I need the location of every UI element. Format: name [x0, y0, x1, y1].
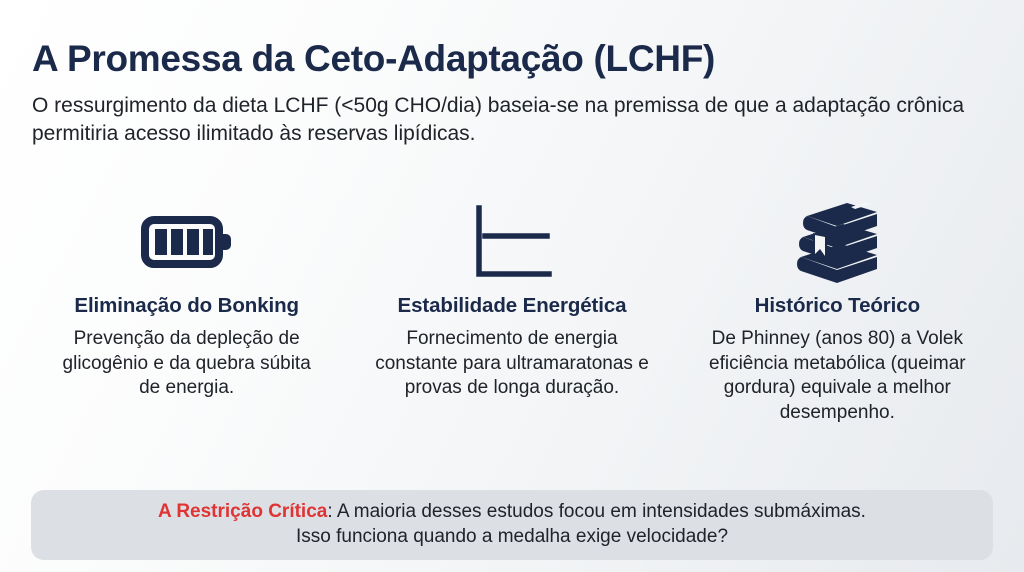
feature-body-1: Prevenção da depleção de glicogênio e da…: [56, 327, 318, 401]
callout-line-1: A Restrição Crítica: A maioria desses es…: [158, 500, 866, 525]
flat-line-chart-icon: [469, 196, 555, 288]
feature-column-1: Eliminação do Bonking Prevenção da deple…: [24, 196, 349, 401]
critical-restriction-callout: A Restrição Crítica: A maioria desses es…: [31, 490, 993, 560]
callout-lead-label: A Restrição Crítica: [158, 501, 327, 522]
battery-full-icon: [141, 196, 233, 288]
feature-heading-1: Eliminação do Bonking: [74, 294, 299, 318]
page-subtitle: O ressurgimento da dieta LCHF (<50g CHO/…: [32, 92, 992, 147]
feature-heading-2: Estabilidade Energética: [398, 294, 627, 318]
feature-body-3: De Phinney (anos 80) a Volek eficiência …: [703, 327, 971, 426]
feature-column-2: Estabilidade Energética Fornecimento de …: [349, 196, 674, 401]
callout-line-2: Isso funciona quando a medalha exige vel…: [296, 525, 728, 550]
stacked-books-icon: [791, 196, 883, 288]
feature-columns: Eliminação do Bonking Prevenção da deple…: [24, 196, 1000, 426]
page-title: A Promessa da Ceto-Adaptação (LCHF): [32, 0, 992, 79]
slide-root: A Promessa da Ceto-Adaptação (LCHF) O re…: [0, 0, 1024, 572]
feature-body-2: Fornecimento de energia constante para u…: [371, 327, 653, 401]
callout-line-1-rest: : A maioria desses estudos focou em inte…: [327, 501, 866, 522]
feature-heading-3: Histórico Teórico: [755, 294, 920, 318]
feature-column-3: Histórico Teórico De Phinney (anos 80) a…: [675, 196, 1000, 426]
